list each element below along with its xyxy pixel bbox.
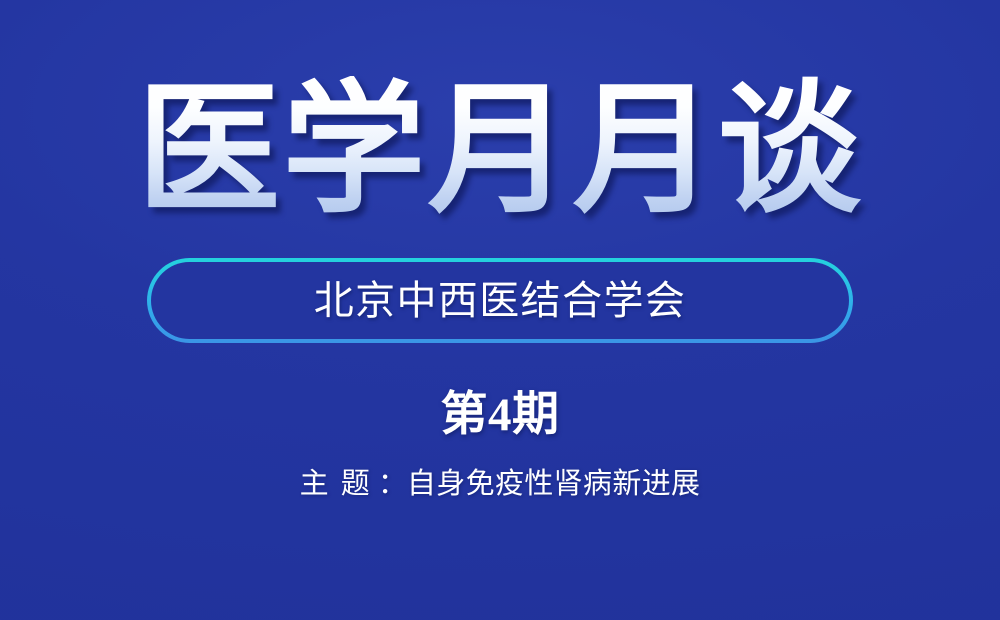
organization-badge: 北京中西医结合学会 xyxy=(147,258,853,343)
main-title: 医学月月谈 xyxy=(137,76,863,232)
topic-separator: ： xyxy=(378,468,407,500)
title-shadow-layer: 医学月月谈 医学月月谈 xyxy=(137,76,863,232)
topic-value: 自身免疫性肾病新进展 xyxy=(407,468,700,500)
poster-stage: 医学月月谈 医学月月谈 北京中西医结合学会 第4期 主题：自身免疫性肾病新进展 xyxy=(0,0,1000,620)
topic-line: 主题：自身免疫性肾病新进展 xyxy=(0,466,1000,502)
title-block: 医学月月谈 医学月月谈 xyxy=(0,76,1000,232)
poster-canvas: 医学月月谈 医学月月谈 北京中西医结合学会 第4期 主题：自身免疫性肾病新进展 xyxy=(0,0,1000,620)
issue-number: 第4期 xyxy=(0,390,1000,442)
topic-label: 主题 xyxy=(300,468,384,500)
organization-name: 北京中西医结合学会 xyxy=(314,281,687,321)
organization-badge-wrap: 北京中西医结合学会 xyxy=(0,258,1000,343)
